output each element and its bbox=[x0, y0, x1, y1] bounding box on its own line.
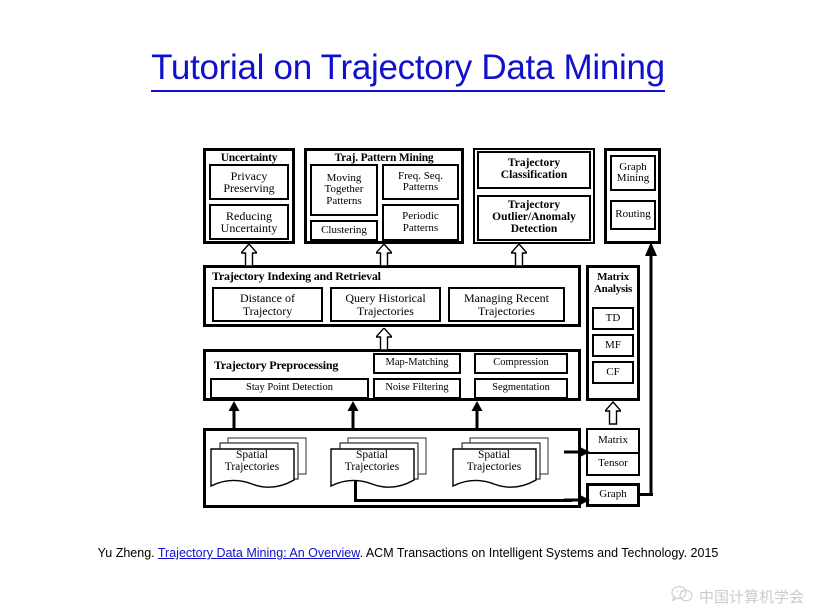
box-reducing-uncertainty[interactable]: Reducing Uncertainty bbox=[209, 204, 289, 240]
box-compression[interactable]: Compression bbox=[474, 353, 568, 374]
box-managing-recent-trajectories[interactable]: Managing Recent Trajectories bbox=[448, 287, 565, 322]
box-graph[interactable]: Graph bbox=[586, 483, 640, 507]
citation-link[interactable]: Trajectory Data Mining: An Overview bbox=[158, 546, 360, 560]
box-query-historical-trajectories[interactable]: Query Historical Trajectories bbox=[330, 287, 441, 322]
divider-matrix-tensor bbox=[588, 452, 638, 454]
box-distance-of-trajectory[interactable]: Distance of Trajectory bbox=[212, 287, 323, 322]
doc-stack-spatial-trajectories-2[interactable]: Spatial Trajectories bbox=[330, 434, 430, 496]
group-matrix-analysis-header: Matrix Analysis bbox=[589, 272, 637, 295]
box-routing[interactable]: Routing bbox=[610, 200, 656, 230]
arrow-matrix-to-matrix-analysis bbox=[605, 401, 621, 425]
arrowhead-graph-to-graph-mining bbox=[644, 242, 658, 258]
wechat-icon bbox=[671, 585, 693, 607]
group-trajectory-preprocessing-header: Trajectory Preprocessing bbox=[214, 359, 338, 371]
box-noise-filtering[interactable]: Noise Filtering bbox=[373, 378, 461, 399]
arrow-data-to-matrix bbox=[564, 446, 590, 458]
doc-stack-spatial-trajectories-1[interactable]: Spatial Trajectories bbox=[210, 434, 310, 496]
arrow-indexing-to-classification bbox=[511, 244, 527, 266]
page-title: Tutorial on Trajectory Data Mining bbox=[0, 48, 816, 88]
arrow-preprocessing-to-indexing bbox=[376, 328, 392, 350]
box-periodic-patterns[interactable]: Periodic Patterns bbox=[382, 204, 459, 241]
group-trajectory-indexing-header: Trajectory Indexing and Retrieval bbox=[212, 270, 584, 282]
box-cf[interactable]: CF bbox=[592, 361, 634, 384]
watermark: 中国计算机学会 bbox=[671, 585, 804, 607]
box-moving-together-patterns[interactable]: Moving Together Patterns bbox=[310, 164, 378, 216]
doc-stack-label-2: Spatial Trajectories bbox=[330, 449, 414, 473]
doc-stack-spatial-trajectories-3[interactable]: Spatial Trajectories bbox=[452, 434, 552, 496]
arrow-data-to-preprocessing-3 bbox=[471, 401, 483, 429]
box-map-matching[interactable]: Map-Matching bbox=[373, 353, 461, 374]
arrow-graph-to-graph-mining bbox=[644, 242, 658, 496]
box-stay-point-detection[interactable]: Stay Point Detection bbox=[210, 378, 369, 399]
arrow-data-to-preprocessing-1 bbox=[228, 401, 240, 429]
connector-data-to-graph-horizontal bbox=[354, 499, 572, 502]
arrow-data-to-graph bbox=[564, 494, 590, 506]
box-td[interactable]: TD bbox=[592, 307, 634, 330]
group-pattern-mining-header: Traj. Pattern Mining bbox=[307, 153, 461, 165]
box-freq-seq-patterns[interactable]: Freq. Seq. Patterns bbox=[382, 164, 459, 200]
watermark-text: 中国计算机学会 bbox=[699, 586, 804, 607]
box-segmentation[interactable]: Segmentation bbox=[474, 378, 568, 399]
group-uncertainty-header: Uncertainty bbox=[206, 153, 292, 165]
citation-rest: . ACM Transactions on Intelligent System… bbox=[360, 546, 719, 560]
citation: Yu Zheng. Trajectory Data Mining: An Ove… bbox=[0, 546, 816, 560]
box-matrix[interactable]: Matrix bbox=[588, 430, 638, 452]
arrow-indexing-to-pattern-mining bbox=[376, 244, 392, 266]
architecture-diagram: Uncertainty Privacy Preserving Reducing … bbox=[200, 142, 660, 512]
box-trajectory-outlier-detection[interactable]: Trajectory Outlier/Anomaly Detection bbox=[477, 195, 591, 241]
box-mf[interactable]: MF bbox=[592, 334, 634, 357]
box-clustering[interactable]: Clustering bbox=[310, 220, 378, 241]
doc-stack-label-1: Spatial Trajectories bbox=[210, 449, 294, 473]
box-privacy-preserving[interactable]: Privacy Preserving bbox=[209, 164, 289, 200]
box-tensor[interactable]: Tensor bbox=[588, 453, 638, 474]
page-title-text: Tutorial on Trajectory Data Mining bbox=[151, 48, 665, 92]
arrow-data-to-preprocessing-2 bbox=[347, 401, 359, 429]
box-trajectory-classification[interactable]: Trajectory Classification bbox=[477, 151, 591, 189]
citation-author: Yu Zheng. bbox=[98, 546, 155, 560]
box-graph-mining[interactable]: Graph Mining bbox=[610, 155, 656, 191]
arrow-indexing-to-uncertainty bbox=[241, 244, 257, 266]
doc-stack-label-3: Spatial Trajectories bbox=[452, 449, 536, 473]
